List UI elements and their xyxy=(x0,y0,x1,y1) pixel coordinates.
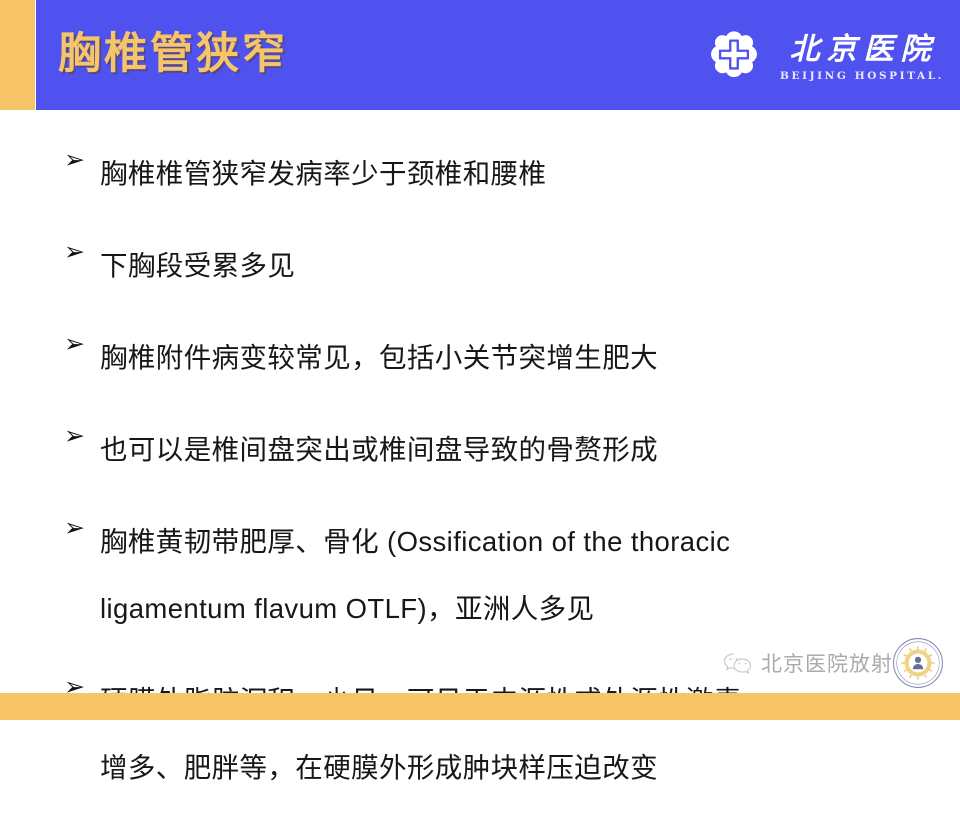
bullet-arrow-icon: ➢ xyxy=(64,329,85,359)
watermark: 北京医院放射科 xyxy=(722,635,944,691)
bullet-arrow-icon: ➢ xyxy=(64,237,85,267)
list-item: ➢ 下胸段受累多见 xyxy=(0,232,960,299)
bullet-text: 胸椎附件病变较常见，包括小关节突增生肥大 xyxy=(100,342,658,373)
list-item: ➢ 也可以是椎间盘突出或椎间盘导致的骨赘形成 xyxy=(0,416,960,483)
bullet-arrow-icon: ➢ xyxy=(64,421,85,451)
list-item: ➢ 胸椎黄韧带肥厚、骨化 (Ossification of the thorac… xyxy=(0,508,960,642)
slide-canvas: 胸椎管狭窄 北京医院 BEIJING HOSPITAL. ➢ 胸椎椎管狭窄发病率… xyxy=(0,0,960,720)
bullet-arrow-icon: ➢ xyxy=(64,513,85,543)
bullet-list: ➢ 胸椎椎管狭窄发病率少于颈椎和腰椎 ➢ 下胸段受累多见 ➢ 胸椎附件病变较常见… xyxy=(0,140,960,826)
beijing-hospital-emblem-icon xyxy=(705,29,763,87)
bullet-arrow-icon: ➢ xyxy=(64,145,85,175)
wechat-icon xyxy=(722,651,754,675)
hospital-name-cn: 北京医院 xyxy=(784,35,938,65)
bullet-text: 胸椎椎管狭窄发病率少于颈椎和腰椎 xyxy=(100,158,546,189)
hospital-name-en: BEIJING HOSPITAL. xyxy=(777,71,944,82)
list-item: ➢ 胸椎椎管狭窄发病率少于颈椎和腰椎 xyxy=(0,140,960,207)
footer-accent-bar xyxy=(0,693,960,720)
radiology-department-seal-icon xyxy=(892,637,944,689)
slide-title: 胸椎管狭窄 xyxy=(58,27,288,81)
header-accent-tab xyxy=(0,0,35,110)
list-item: ➢ 胸椎附件病变较常见，包括小关节突增生肥大 xyxy=(0,324,960,391)
bullet-text: 也可以是椎间盘突出或椎间盘导致的骨赘形成 xyxy=(100,434,658,465)
bullet-text: 胸椎黄韧带肥厚、骨化 (Ossification of the thoracic… xyxy=(100,526,730,624)
bullet-text: 下胸段受累多见 xyxy=(100,250,295,281)
hospital-logo-text: 北京医院 BEIJING HOSPITAL. xyxy=(777,35,944,82)
hospital-logo: 北京医院 BEIJING HOSPITAL. xyxy=(705,27,944,89)
